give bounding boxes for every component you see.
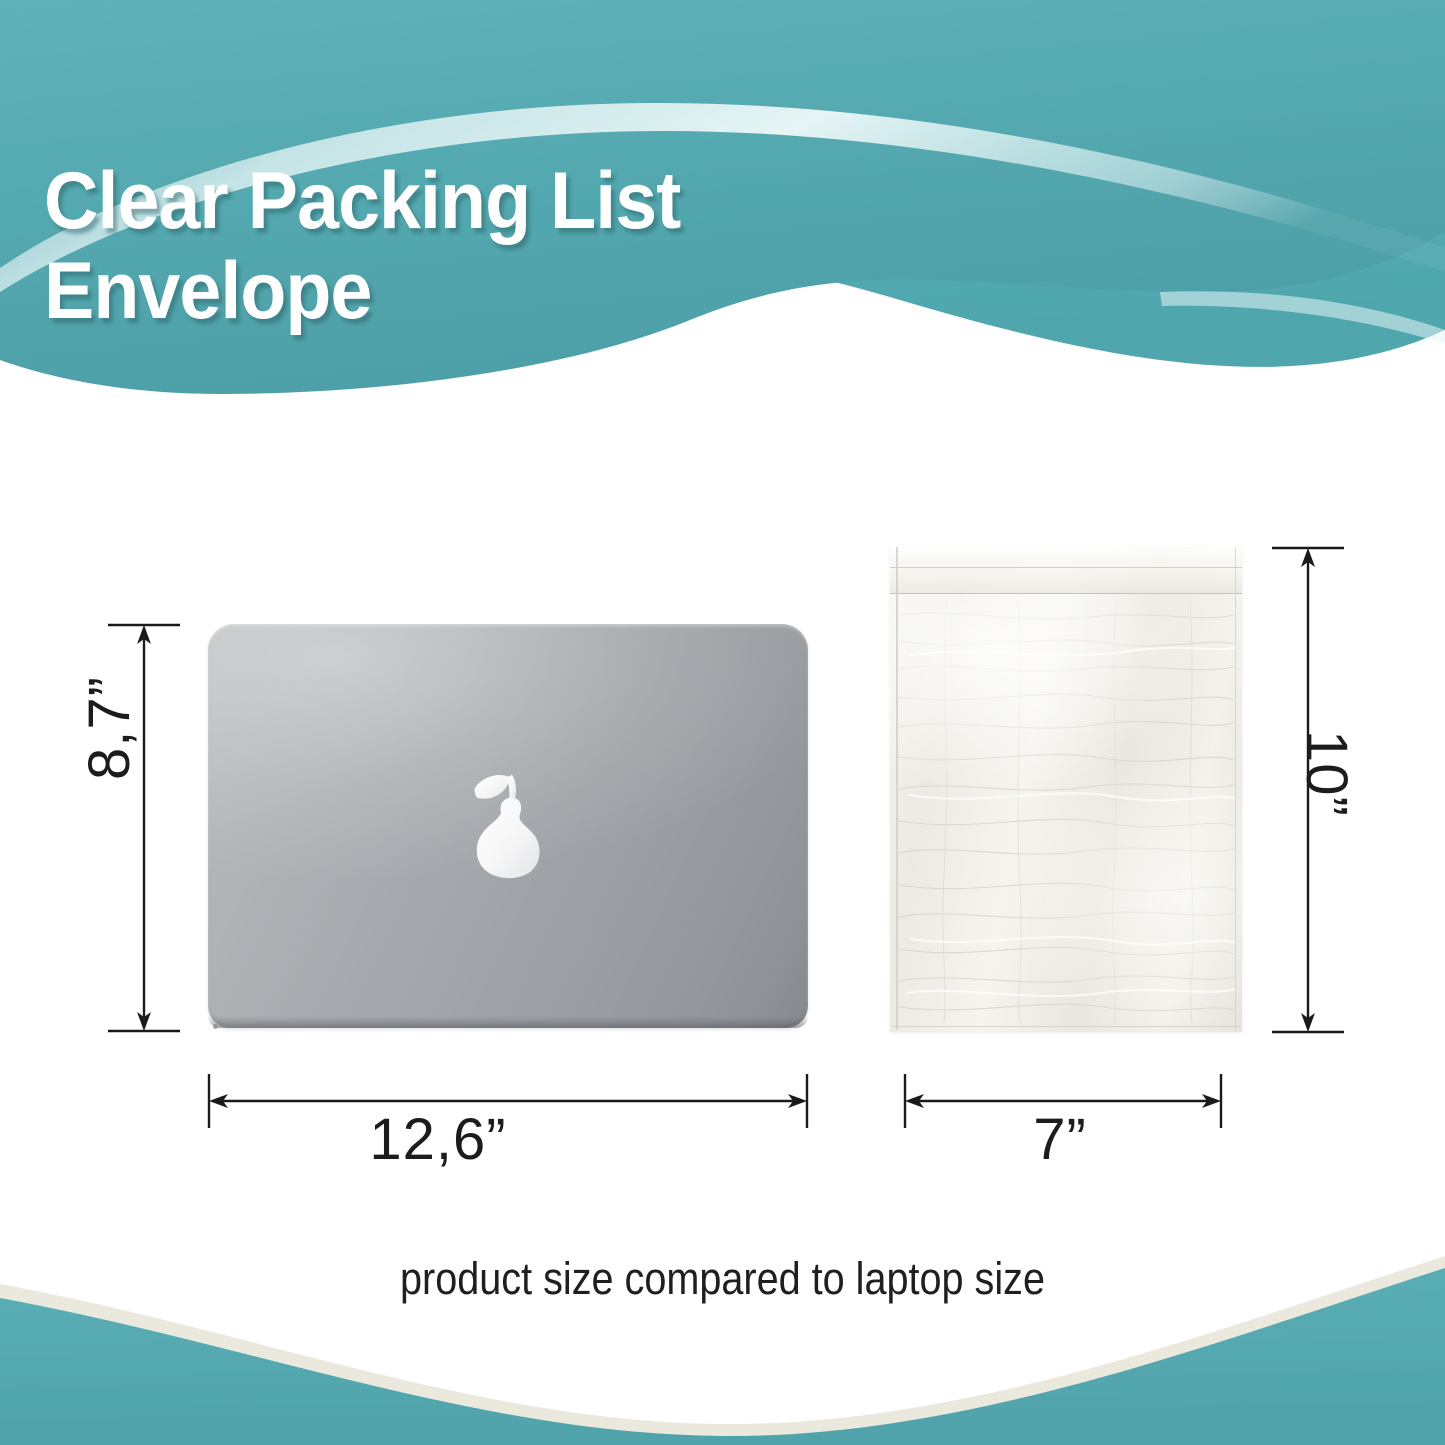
laptop-corner-speck [213, 1024, 218, 1029]
laptop-bottom-edge [208, 1016, 808, 1028]
infographic-canvas: Clear Packing List Envelope [0, 0, 1445, 1445]
envelope-right-border [1235, 547, 1237, 1030]
page-title: Clear Packing List [44, 160, 807, 243]
envelope-product-image [890, 545, 1242, 1032]
laptop-height-label: 8,7” [76, 676, 143, 780]
envelope-top-flap [890, 545, 1242, 594]
envelope-bottom-border [892, 1026, 1240, 1028]
pear-icon [465, 768, 551, 880]
envelope-gloss [890, 545, 1242, 1032]
envelope-left-border [896, 547, 898, 1030]
envelope-flap-crease [890, 567, 1242, 568]
envelope-height-label: 10” [1293, 730, 1360, 817]
laptop-width-label: 12,6” [369, 1106, 506, 1173]
laptop-product-image [208, 624, 808, 1028]
laptop-width-dimension [196, 1070, 820, 1148]
envelope-width-label: 7” [1033, 1106, 1087, 1173]
comparison-caption: product size compared to laptop size [87, 1253, 1359, 1305]
page-title-line2: Envelope [44, 250, 807, 333]
gloss-highlight-arc-secondary [1160, 291, 1445, 344]
